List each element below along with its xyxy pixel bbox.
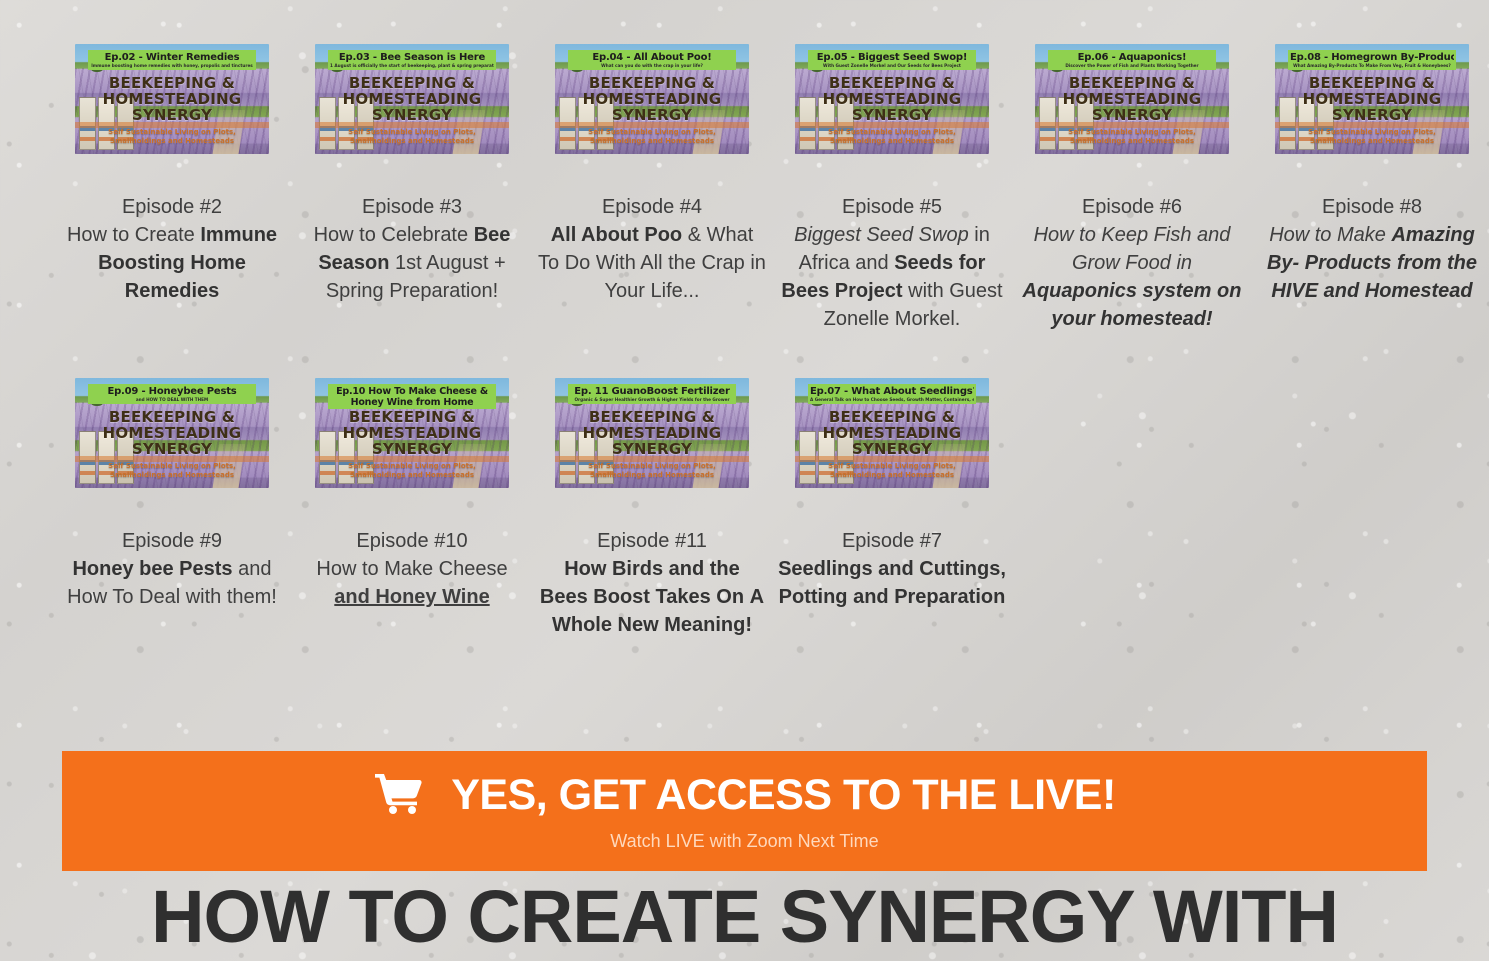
- episode-thumbnail[interactable]: Ep.08 - Homegrown By-Products!What Amazi…: [1275, 44, 1469, 154]
- thumbnail-episode-banner: Ep.03 - Bee Season is Here1 August is of…: [328, 50, 496, 70]
- caption-segment: All About Poo: [551, 224, 682, 246]
- caption-segment: Preparation!: [389, 280, 498, 302]
- thumbnail-brand-title: BEEKEEPING &HOMESTEADINGSYNERGY: [75, 75, 269, 123]
- thumbnail-tagline: Self Sustainable Living on Plots,Smallho…: [795, 128, 989, 146]
- caption-segment: How To Deal with: [67, 586, 221, 608]
- thumbnail-episode-title: Ep.03 - Bee Season is Here: [330, 52, 494, 63]
- brand-line: BEEKEEPING &: [75, 75, 269, 91]
- episode-thumbnail-link[interactable]: Ep.07 - What About Seedlings?A General T…: [795, 378, 989, 488]
- episode-description: Honey bee Pests and How To Deal with the…: [58, 555, 286, 611]
- tagline-line: Smallholdings and Homesteads: [75, 471, 269, 480]
- brand-line: BEEKEEPING &: [75, 409, 269, 425]
- episode-card[interactable]: Ep.08 - Homegrown By-Products!What Amazi…: [1252, 44, 1489, 333]
- caption-segment: HIVE and: [1271, 280, 1359, 302]
- episode-thumbnail[interactable]: Ep. 11 GuanoBoost FertilizerOrganic & Su…: [555, 378, 749, 488]
- caption-segment: them!: [227, 586, 277, 608]
- thumbnail-episode-subtitle: What can you do with the crap in your li…: [570, 63, 734, 69]
- thumbnail-episode-subtitle: and HOW TO DEAL WITH THEM: [90, 397, 254, 403]
- brand-line: HOMESTEADING: [315, 91, 509, 107]
- brand-line: BEEKEEPING &: [795, 409, 989, 425]
- episode-number: Episode #5: [778, 193, 1006, 221]
- caption-segment: Morkel.: [895, 308, 961, 330]
- tagline-line: Self Sustainable Living on Plots,: [555, 128, 749, 137]
- thumbnail-episode-title: Ep.02 - Winter Remedies: [90, 52, 254, 63]
- thumbnail-episode-subtitle: Discover the Power of Fish and Plants Wo…: [1050, 63, 1214, 69]
- tagline-line: Self Sustainable Living on Plots,: [795, 462, 989, 471]
- episode-caption: Episode #10How to Make Cheese and Honey …: [292, 527, 532, 611]
- brand-line: SYNERGY: [1035, 107, 1229, 123]
- brand-line: BEEKEEPING &: [555, 75, 749, 91]
- thumbnail-brand-title: BEEKEEPING &HOMESTEADINGSYNERGY: [555, 75, 749, 123]
- episode-caption: Episode #4All About Poo & What To Do Wit…: [532, 193, 772, 305]
- tagline-line: Smallholdings and Homesteads: [75, 137, 269, 146]
- tagline-line: Self Sustainable Living on Plots,: [75, 462, 269, 471]
- thumbnail-episode-subtitle: Immune boosting home remedies with honey…: [90, 63, 254, 69]
- episode-caption: Episode #5Biggest Seed Swop in Africa an…: [772, 193, 1012, 333]
- thumbnail-tagline: Self Sustainable Living on Plots,Smallho…: [75, 462, 269, 480]
- thumbnail-brand-title: BEEKEEPING &HOMESTEADINGSYNERGY: [75, 409, 269, 457]
- episode-grid: Ep.02 - Winter RemediesImmune boosting h…: [0, 0, 1489, 639]
- brand-line: HOMESTEADING: [75, 425, 269, 441]
- episode-thumbnail-link[interactable]: Ep.03 - Bee Season is Here1 August is of…: [315, 44, 509, 154]
- episode-description: How to Make Cheese and Honey Wine: [298, 555, 526, 611]
- caption-segment: Seeds: [894, 252, 953, 274]
- brand-line: SYNERGY: [315, 107, 509, 123]
- episode-thumbnail[interactable]: Ep.07 - What About Seedlings?A General T…: [795, 378, 989, 488]
- thumbnail-tagline: Self Sustainable Living on Plots,Smallho…: [315, 128, 509, 146]
- thumbnail-episode-banner: Ep.07 - What About Seedlings?A General T…: [808, 384, 976, 404]
- thumbnail-episode-subtitle: What Amazing By-Products To Make From Ve…: [1290, 63, 1454, 69]
- tagline-line: Smallholdings and Homesteads: [555, 471, 749, 480]
- episode-number: Episode #11: [538, 527, 766, 555]
- caption-segment: How Birds and the: [564, 558, 740, 580]
- tagline-line: Smallholdings and Homesteads: [1035, 137, 1229, 146]
- episode-description: How to Create Immune Boosting Home Remed…: [58, 221, 286, 305]
- brand-line: HOMESTEADING: [1275, 91, 1469, 107]
- tagline-line: Smallholdings and Homesteads: [795, 137, 989, 146]
- episode-description: How Birds and the Bees Boost Takes On A …: [538, 555, 766, 639]
- brand-line: HOMESTEADING: [315, 425, 509, 441]
- tagline-line: Smallholdings and Homesteads: [315, 137, 509, 146]
- episode-caption: Episode #3How to Celebrate Bee Season 1s…: [292, 193, 532, 305]
- caption-segment: Biggest Seed Swop: [794, 224, 969, 246]
- episode-card[interactable]: Ep.07 - What About Seedlings?A General T…: [772, 378, 1012, 639]
- cta-main-line: YES, GET ACCESS TO THE LIVE!: [373, 771, 1116, 820]
- brand-line: SYNERGY: [75, 107, 269, 123]
- caption-segment: and Honey Wine: [334, 586, 489, 608]
- brand-line: HOMESTEADING: [795, 91, 989, 107]
- tagline-line: Smallholdings and Homesteads: [315, 471, 509, 480]
- episode-card[interactable]: Ep.09 - Honeybee Pestsand HOW TO DEAL WI…: [52, 378, 292, 639]
- episode-thumbnail-link[interactable]: Ep.09 - Honeybee Pestsand HOW TO DEAL WI…: [75, 378, 269, 488]
- thumbnail-episode-banner: Ep.08 - Homegrown By-Products!What Amazi…: [1288, 50, 1456, 70]
- brand-line: SYNERGY: [1275, 107, 1469, 123]
- episode-card[interactable]: Ep.04 - All About Poo!What can you do wi…: [532, 44, 772, 333]
- brand-line: SYNERGY: [555, 107, 749, 123]
- brand-line: SYNERGY: [795, 441, 989, 457]
- caption-segment: Bees Boost Takes On: [540, 586, 744, 608]
- thumbnail-episode-banner: Ep.09 - Honeybee Pestsand HOW TO DEAL WI…: [88, 384, 256, 404]
- thumbnail-tagline: Self Sustainable Living on Plots,Smallho…: [1275, 128, 1469, 146]
- episode-caption: Episode #6How to Keep Fish and Grow Food…: [1012, 193, 1252, 333]
- cta-sublabel: Watch LIVE with Zoom Next Time: [610, 830, 878, 852]
- episode-thumbnail[interactable]: Ep.04 - All About Poo!What can you do wi…: [555, 44, 749, 154]
- caption-segment: How to Make: [1269, 224, 1386, 246]
- thumbnail-episode-title: Ep.05 - Biggest Seed Swop!: [810, 52, 974, 63]
- episode-number: Episode #7: [778, 527, 1006, 555]
- brand-line: HOMESTEADING: [75, 91, 269, 107]
- thumbnail-episode-title: Ep. 11 GuanoBoost Fertilizer: [570, 386, 734, 397]
- brand-line: SYNERGY: [795, 107, 989, 123]
- episode-thumbnail-link[interactable]: Ep.05 - Biggest Seed Swop!With Guest Zon…: [795, 44, 989, 154]
- caption-segment: Seedlings and: [778, 558, 914, 580]
- tagline-line: Smallholdings and Homesteads: [555, 137, 749, 146]
- get-access-cta-button[interactable]: YES, GET ACCESS TO THE LIVE! Watch LIVE …: [62, 751, 1427, 871]
- episode-caption: Episode #7Seedlings and Cuttings, Pottin…: [772, 527, 1012, 611]
- episode-number: Episode #9: [58, 527, 286, 555]
- tagline-line: Smallholdings and Homesteads: [795, 471, 989, 480]
- episode-thumbnail[interactable]: Ep.10 How To Make Cheese & Honey Wine fr…: [315, 378, 509, 488]
- caption-segment: How to Celebrate: [314, 224, 469, 246]
- thumbnail-tagline: Self Sustainable Living on Plots,Smallho…: [555, 462, 749, 480]
- caption-segment: Products from the: [1305, 252, 1477, 274]
- episode-thumbnail[interactable]: Ep.09 - Honeybee Pestsand HOW TO DEAL WI…: [75, 378, 269, 488]
- thumbnail-episode-title: Ep.04 - All About Poo!: [570, 52, 734, 63]
- episode-number: Episode #8: [1258, 193, 1486, 221]
- episode-card[interactable]: Ep.05 - Biggest Seed Swop!With Guest Zon…: [772, 44, 1012, 333]
- thumbnail-episode-title: Ep.09 - Honeybee Pests: [90, 386, 254, 397]
- thumbnail-episode-title: Ep.06 - Aquaponics!: [1050, 52, 1214, 63]
- tagline-line: Self Sustainable Living on Plots,: [1275, 128, 1469, 137]
- episode-number: Episode #10: [298, 527, 526, 555]
- episode-description: How to Keep Fish and Grow Food in Aquapo…: [1018, 221, 1246, 333]
- episode-row-1: Ep.02 - Winter RemediesImmune boosting h…: [52, 0, 1437, 333]
- thumbnail-brand-title: BEEKEEPING &HOMESTEADINGSYNERGY: [315, 409, 509, 457]
- episode-thumbnail-link[interactable]: Ep.04 - All About Poo!What can you do wi…: [555, 44, 749, 154]
- caption-segment: Preparation: [894, 586, 1005, 608]
- thumbnail-episode-subtitle: With Guest Zonelle Morkel and Our Seeds …: [810, 63, 974, 69]
- thumbnail-tagline: Self Sustainable Living on Plots,Smallho…: [315, 462, 509, 480]
- episode-thumbnail[interactable]: Ep.05 - Biggest Seed Swop!With Guest Zon…: [795, 44, 989, 154]
- thumbnail-brand-title: BEEKEEPING &HOMESTEADINGSYNERGY: [795, 75, 989, 123]
- thumbnail-episode-banner: Ep.02 - Winter RemediesImmune boosting h…: [88, 50, 256, 70]
- tagline-line: Smallholdings and Homesteads: [1275, 137, 1469, 146]
- brand-line: BEEKEEPING &: [315, 409, 509, 425]
- thumbnail-tagline: Self Sustainable Living on Plots,Smallho…: [75, 128, 269, 146]
- episode-caption: Episode #11How Birds and the Bees Boost …: [532, 527, 772, 639]
- episode-description: How to Celebrate Bee Season 1st August +…: [298, 221, 526, 305]
- page-headline: HOW TO CREATE SYNERGY WITH: [0, 874, 1489, 960]
- episode-description: Seedlings and Cuttings, Potting and Prep…: [778, 555, 1006, 611]
- brand-line: BEEKEEPING &: [1035, 75, 1229, 91]
- episode-number: Episode #2: [58, 193, 286, 221]
- thumbnail-brand-title: BEEKEEPING &HOMESTEADINGSYNERGY: [1035, 75, 1229, 123]
- episode-thumbnail-link[interactable]: Ep.06 - Aquaponics!Discover the Power of…: [1035, 44, 1229, 154]
- brand-line: SYNERGY: [555, 441, 749, 457]
- episode-card[interactable]: Ep. 11 GuanoBoost FertilizerOrganic & Su…: [532, 378, 772, 639]
- thumbnail-episode-banner: Ep.05 - Biggest Seed Swop!With Guest Zon…: [808, 50, 976, 70]
- thumbnail-tagline: Self Sustainable Living on Plots,Smallho…: [555, 128, 749, 146]
- caption-segment: Honey bee Pests: [72, 558, 232, 580]
- thumbnail-episode-subtitle: 1 August is officially the start of beek…: [330, 63, 494, 69]
- episode-thumbnail-link[interactable]: Ep.08 - Homegrown By-Products!What Amazi…: [1275, 44, 1469, 154]
- cta-label: YES, GET ACCESS TO THE LIVE!: [451, 772, 1116, 818]
- episode-number: Episode #3: [298, 193, 526, 221]
- brand-line: SYNERGY: [315, 441, 509, 457]
- landing-page: Ep.02 - Winter RemediesImmune boosting h…: [0, 0, 1489, 961]
- episode-thumbnail-link[interactable]: Ep.02 - Winter RemediesImmune boosting h…: [75, 44, 269, 154]
- thumbnail-episode-subtitle: A General Talk on How to Choose Seeds, G…: [810, 397, 974, 403]
- episode-card[interactable]: Ep.10 How To Make Cheese & Honey Wine fr…: [292, 378, 532, 639]
- caption-segment: Homestead: [1365, 280, 1473, 302]
- episode-description: How to Make Amazing By- Products from th…: [1258, 221, 1486, 305]
- thumbnail-episode-subtitle: Organic & Super Healthier Growth & Highe…: [570, 397, 734, 403]
- tagline-line: Self Sustainable Living on Plots,: [315, 462, 509, 471]
- episode-card[interactable]: Ep.03 - Bee Season is Here1 August is of…: [292, 44, 532, 333]
- tagline-line: Self Sustainable Living on Plots,: [75, 128, 269, 137]
- thumbnail-episode-title: Ep.07 - What About Seedlings?: [810, 386, 974, 397]
- episode-thumbnail[interactable]: Ep.06 - Aquaponics!Discover the Power of…: [1035, 44, 1229, 154]
- thumbnail-tagline: Self Sustainable Living on Plots,Smallho…: [1035, 128, 1229, 146]
- thumbnail-tagline: Self Sustainable Living on Plots,Smallho…: [795, 462, 989, 480]
- episode-number: Episode #4: [538, 193, 766, 221]
- caption-segment: How to Keep Fish: [1034, 224, 1192, 246]
- thumbnail-episode-title: Ep.10 How To Make Cheese & Honey Wine fr…: [330, 386, 494, 408]
- brand-line: BEEKEEPING &: [1275, 75, 1469, 91]
- episode-caption: Episode #2How to Create Immune Boosting …: [52, 193, 292, 305]
- caption-segment: How to Create: [67, 224, 195, 246]
- caption-segment: How to Make Cheese: [316, 558, 507, 580]
- episode-caption: Episode #9Honey bee Pests and How To Dea…: [52, 527, 292, 611]
- episode-thumbnail-link[interactable]: Ep. 11 GuanoBoost FertilizerOrganic & Su…: [555, 378, 749, 488]
- thumbnail-episode-banner: Ep.10 How To Make Cheese & Honey Wine fr…: [328, 384, 496, 409]
- thumbnail-episode-banner: Ep.06 - Aquaponics!Discover the Power of…: [1048, 50, 1216, 70]
- episode-description: Biggest Seed Swop in Africa and Seeds fo…: [778, 221, 1006, 333]
- brand-line: BEEKEEPING &: [795, 75, 989, 91]
- episode-description: All About Poo & What To Do With All the …: [538, 221, 766, 305]
- thumbnail-brand-title: BEEKEEPING &HOMESTEADINGSYNERGY: [795, 409, 989, 457]
- brand-line: SYNERGY: [75, 441, 269, 457]
- thumbnail-episode-title: Ep.08 - Homegrown By-Products!: [1290, 52, 1454, 63]
- episode-card[interactable]: Ep.06 - Aquaponics!Discover the Power of…: [1012, 44, 1252, 333]
- brand-line: BEEKEEPING &: [555, 409, 749, 425]
- thumbnail-brand-title: BEEKEEPING &HOMESTEADINGSYNERGY: [555, 409, 749, 457]
- tagline-line: Self Sustainable Living on Plots,: [795, 128, 989, 137]
- episode-number: Episode #6: [1018, 193, 1246, 221]
- brand-line: HOMESTEADING: [795, 425, 989, 441]
- episode-thumbnail[interactable]: Ep.03 - Bee Season is Here1 August is of…: [315, 44, 509, 154]
- tagline-line: Self Sustainable Living on Plots,: [1035, 128, 1229, 137]
- brand-line: HOMESTEADING: [555, 425, 749, 441]
- thumbnail-brand-title: BEEKEEPING &HOMESTEADINGSYNERGY: [315, 75, 509, 123]
- episode-card[interactable]: Ep.02 - Winter RemediesImmune boosting h…: [52, 44, 292, 333]
- episode-row-2: Ep.09 - Honeybee Pestsand HOW TO DEAL WI…: [52, 333, 1437, 639]
- brand-line: HOMESTEADING: [1035, 91, 1229, 107]
- caption-segment: Aquaponics system: [1023, 280, 1212, 302]
- caption-segment: Life...: [651, 280, 700, 302]
- episode-caption: Episode #8How to Make Amazing By- Produc…: [1252, 193, 1489, 305]
- shopping-cart-icon: [373, 771, 423, 820]
- thumbnail-episode-banner: Ep.04 - All About Poo!What can you do wi…: [568, 50, 736, 70]
- episode-thumbnail-link[interactable]: Ep.10 How To Make Cheese & Honey Wine fr…: [315, 378, 509, 488]
- tagline-line: Self Sustainable Living on Plots,: [555, 462, 749, 471]
- episode-thumbnail[interactable]: Ep.02 - Winter RemediesImmune boosting h…: [75, 44, 269, 154]
- caption-segment: Meaning!: [664, 614, 752, 636]
- thumbnail-brand-title: BEEKEEPING &HOMESTEADINGSYNERGY: [1275, 75, 1469, 123]
- brand-line: HOMESTEADING: [555, 91, 749, 107]
- brand-line: BEEKEEPING &: [315, 75, 509, 91]
- thumbnail-episode-banner: Ep. 11 GuanoBoost FertilizerOrganic & Su…: [568, 384, 736, 404]
- tagline-line: Self Sustainable Living on Plots,: [315, 128, 509, 137]
